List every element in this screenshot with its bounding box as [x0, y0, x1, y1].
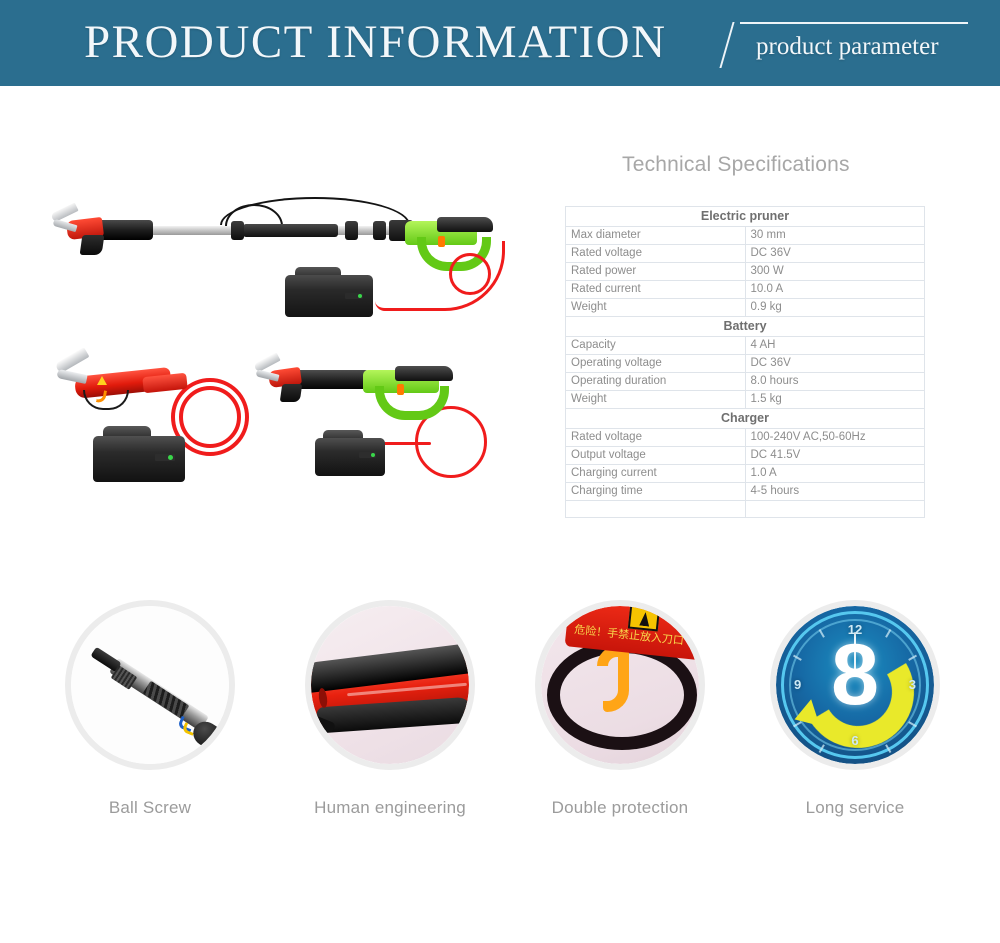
pole-collar — [373, 221, 386, 240]
clock-icon: 12 3 6 9 8 — [770, 600, 940, 770]
handle-black-top — [437, 217, 493, 232]
table-row: Charging current 1.0 A — [566, 465, 925, 483]
spec-value: 8.0 hours — [745, 373, 925, 391]
orange-hook — [603, 650, 629, 712]
table-row: Rated current 10.0 A — [566, 281, 925, 299]
spec-value: 0.9 kg — [745, 299, 925, 317]
spec-heading: Technical Specifications — [622, 153, 850, 177]
feature-caption: Long service — [755, 798, 955, 818]
spec-value: 10.0 A — [745, 281, 925, 299]
table-row: Output voltage DC 41.5V — [566, 447, 925, 465]
table-row: Charging time 4-5 hours — [566, 483, 925, 501]
table-row: Weight 1.5 kg — [566, 391, 925, 409]
product-photo-short-pole-pruner — [245, 350, 535, 495]
pruner-head-bracket — [280, 384, 303, 402]
spec-label: Operating duration — [566, 373, 746, 391]
product-information-page: PRODUCT INFORMATION product parameter — [0, 0, 1000, 943]
page-header-banner: PRODUCT INFORMATION product parameter — [0, 0, 1000, 86]
spec-label: Rated current — [566, 281, 746, 299]
clock-hours-digit: 8 — [776, 632, 934, 718]
spec-label: Operating voltage — [566, 355, 746, 373]
section-title: Battery — [566, 317, 925, 337]
spec-label: Output voltage — [566, 447, 746, 465]
page-subtitle: product parameter — [756, 31, 939, 63]
feature-caption: Double protection — [520, 798, 720, 818]
warning-triangle-icon — [628, 606, 660, 632]
red-cable-inner-coil — [179, 386, 241, 448]
spec-label: Charging time — [566, 483, 746, 501]
product-photo-handheld-pruner — [35, 350, 265, 495]
feature-caption: Ball Screw — [50, 798, 250, 818]
table-row: Rated voltage DC 36V — [566, 245, 925, 263]
feature-caption: Human engineering — [290, 798, 490, 818]
clock-numeral-6: 6 — [776, 733, 934, 748]
handle-grip-icon — [305, 600, 475, 770]
table-section-header: Battery — [566, 317, 925, 337]
title-underline-rule — [740, 22, 968, 24]
section-title: Electric pruner — [566, 207, 925, 227]
pole-grip — [293, 370, 369, 389]
ball-screw-icon — [65, 600, 235, 770]
spec-label: Capacity — [566, 337, 746, 355]
red-cable-loop — [449, 253, 491, 295]
battery-indicator-led — [155, 454, 175, 461]
spec-label: Weight — [566, 391, 746, 409]
spec-label: Rated power — [566, 263, 746, 281]
feature-human-engineering: Human engineering — [290, 600, 490, 818]
handle-black-top — [395, 366, 453, 381]
product-photo-telescopic-pole-pruner — [45, 195, 545, 320]
product-photo-group — [0, 100, 550, 540]
spec-value: DC 41.5V — [745, 447, 925, 465]
pole-collar — [345, 221, 358, 240]
spec-value: 30 mm — [745, 227, 925, 245]
spec-value: DC 36V — [745, 245, 925, 263]
pole-collar — [231, 221, 244, 240]
spec-value — [745, 501, 925, 518]
table-row: Capacity 4 AH — [566, 337, 925, 355]
technical-specifications-table: Electric pruner Max diameter 30 mm Rated… — [565, 206, 925, 518]
spec-label: Rated voltage — [566, 245, 746, 263]
orange-trigger — [397, 384, 404, 395]
spec-value: 100-240V AC,50-60Hz — [745, 429, 925, 447]
spec-value: 1.0 A — [745, 465, 925, 483]
pruner-head-bracket — [80, 235, 105, 255]
table-section-header: Charger — [566, 409, 925, 429]
spec-value: DC 36V — [745, 355, 925, 373]
table-row: Max diameter 30 mm — [566, 227, 925, 245]
feature-ball-screw: Ball Screw — [50, 600, 250, 818]
feature-highlights: Ball Screw Human engineering — [0, 600, 1000, 900]
feature-long-service: 12 3 6 9 8 Long service — [755, 600, 955, 818]
title-slash-divider — [719, 22, 734, 68]
spec-value: 4-5 hours — [745, 483, 925, 501]
table-row: Weight 0.9 kg — [566, 299, 925, 317]
pruner-blade-lower — [56, 369, 87, 384]
feature-double-protection: 危险！手禁止放入刀口 Double protection — [520, 600, 720, 818]
pole-mid-grip — [243, 224, 338, 237]
table-row: Rated voltage 100-240V AC,50-60Hz — [566, 429, 925, 447]
spec-label: Max diameter — [566, 227, 746, 245]
table-row-empty — [566, 501, 925, 518]
table-row: Operating duration 8.0 hours — [566, 373, 925, 391]
table-row: Rated power 300 W — [566, 263, 925, 281]
spec-label — [566, 501, 746, 518]
section-title: Charger — [566, 409, 925, 429]
spec-label: Weight — [566, 299, 746, 317]
page-title: PRODUCT INFORMATION — [84, 17, 667, 67]
spec-value: 4 AH — [745, 337, 925, 355]
spec-value: 300 W — [745, 263, 925, 281]
table-section-header: Electric pruner — [566, 207, 925, 227]
cable-guard-icon: 危险！手禁止放入刀口 — [535, 600, 705, 770]
spec-label: Charging current — [566, 465, 746, 483]
spec-value: 1.5 kg — [745, 391, 925, 409]
spec-label: Rated voltage — [566, 429, 746, 447]
table-row: Operating voltage DC 36V — [566, 355, 925, 373]
battery-indicator-led — [359, 452, 376, 458]
battery-indicator-led — [345, 293, 363, 299]
